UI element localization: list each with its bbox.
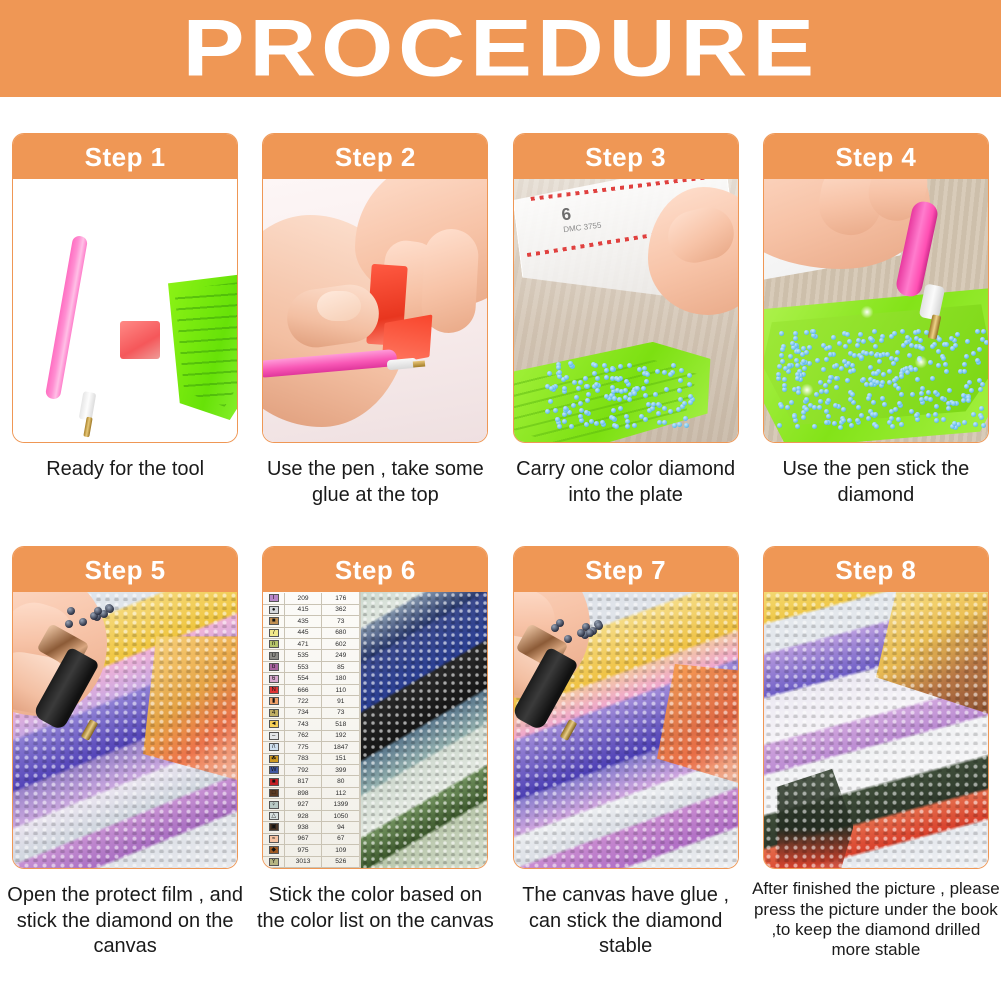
color-swatch: U <box>269 652 279 660</box>
color-count-cell: 249 <box>322 650 359 660</box>
color-swatch: 7 <box>269 629 279 637</box>
step-card-1[interactable]: Step 1 <box>12 133 238 443</box>
drill-texture <box>764 592 988 868</box>
step-badge-1: Step 1 <box>13 134 237 179</box>
color-count-cell: 1847 <box>322 742 359 752</box>
drill-bead <box>856 338 861 343</box>
drill-bead <box>579 408 584 413</box>
color-list-row: ▣93894 <box>263 822 359 833</box>
color-dmc-cell: 975 <box>285 845 322 855</box>
color-dmc-cell: 967 <box>285 834 322 844</box>
color-count-cell: 180 <box>322 673 359 683</box>
color-symbol-cell: ◆ <box>263 845 285 855</box>
drill-bead <box>549 386 554 391</box>
step-cell-3: Step 3 6 DMC 3755 <box>501 133 751 508</box>
pour-beads-photo: 6 DMC 3755 <box>514 179 738 442</box>
drill-bead <box>943 362 948 367</box>
drill-bead <box>879 338 884 343</box>
color-count-cell: 73 <box>322 708 359 718</box>
step-image-8 <box>764 592 988 868</box>
steps-grid: Step 1 Ready for the tool <box>0 133 1001 961</box>
color-symbol-cell: b <box>263 662 285 672</box>
sparkle-icon <box>860 305 874 319</box>
color-dmc-cell: 471 <box>285 639 322 649</box>
drill-bead <box>855 418 860 423</box>
drill-bead <box>804 397 809 402</box>
step-badge-label-5: Step 5 <box>85 557 166 583</box>
drill-bead <box>824 409 829 414</box>
color-dmc-cell: 209 <box>285 593 322 603</box>
drill-bead <box>595 388 600 393</box>
drill-bead <box>624 379 629 384</box>
drill-bead <box>941 356 946 361</box>
color-count-cell: 399 <box>322 765 359 775</box>
drill-bead <box>818 380 823 385</box>
step-image-1 <box>13 179 237 442</box>
drill-bead <box>623 395 628 400</box>
drill-bead <box>656 402 661 407</box>
drill-bead <box>94 607 102 615</box>
step-badge-label-1: Step 1 <box>85 144 166 170</box>
drill-bead <box>845 332 850 337</box>
step-image-3: 6 DMC 3755 <box>514 179 738 442</box>
color-dmc-cell: 435 <box>285 616 322 626</box>
color-dmc-cell: 445 <box>285 628 322 638</box>
drill-bead <box>635 386 640 391</box>
color-symbol-cell: ♀ <box>263 799 285 809</box>
drill-bead <box>897 401 902 406</box>
drill-bead <box>980 337 985 342</box>
drill-bead <box>795 363 800 368</box>
color-symbol-cell: n <box>263 639 285 649</box>
color-swatch: n <box>269 640 279 648</box>
drill-bead <box>896 417 901 422</box>
drill-bead <box>801 346 806 351</box>
drill-bead <box>679 368 684 373</box>
step-badge-label-6: Step 6 <box>335 557 416 583</box>
red-glue-square-icon <box>120 321 160 359</box>
step-cell-8: Step 8 After finished the picture , plea… <box>751 546 1001 961</box>
drill-bead <box>955 332 960 337</box>
drill-bead <box>845 378 850 383</box>
color-dmc-cell: 938 <box>285 822 322 832</box>
color-count-cell: 110 <box>322 685 359 695</box>
glued-canvas-photo <box>514 592 738 868</box>
color-dmc-cell: 898 <box>285 788 322 798</box>
glue-dip-photo <box>263 179 487 442</box>
drill-bead <box>677 422 682 427</box>
drill-bead <box>785 405 790 410</box>
dark-drills-group <box>59 602 137 628</box>
drill-bead <box>909 409 914 414</box>
drill-bead <box>793 418 798 423</box>
drill-bead <box>909 343 914 348</box>
drill-bead <box>951 401 956 406</box>
color-swatch: △ <box>269 812 279 820</box>
drill-bead <box>687 382 692 387</box>
color-list-row: –762192 <box>263 731 359 742</box>
color-count-cell: 67 <box>322 834 359 844</box>
drill-bead <box>874 353 879 358</box>
drill-bead <box>834 376 839 381</box>
step-badge-3: Step 3 <box>514 134 738 179</box>
color-list-row: W792399 <box>263 765 359 776</box>
drill-bead <box>971 412 976 417</box>
color-count-cell: 109 <box>322 845 359 855</box>
drill-bead <box>688 394 693 399</box>
drill-bead <box>915 377 920 382</box>
bag-label-number: 6 <box>560 204 573 224</box>
drill-bead <box>914 413 919 418</box>
color-count-cell: 1399 <box>322 799 359 809</box>
step-card-5[interactable]: Step 5 <box>12 546 238 869</box>
drill-bead <box>861 377 866 382</box>
drill-bead <box>682 401 687 406</box>
color-count-cell: 526 <box>322 857 359 867</box>
drill-bead <box>67 607 75 615</box>
pen-metal-tip <box>413 360 425 367</box>
drill-bead <box>792 414 797 419</box>
drill-bead <box>584 422 589 427</box>
color-list-row: ■43573 <box>263 616 359 627</box>
color-symbol-cell: ≈ <box>263 834 285 844</box>
drill-bead <box>593 363 598 368</box>
drill-bead <box>874 424 879 429</box>
color-swatch: ◄ <box>269 720 279 728</box>
color-dmc-cell: 554 <box>285 673 322 683</box>
canvas-photo <box>13 592 237 868</box>
color-list-row: □898112 <box>263 788 359 799</box>
drill-bead <box>557 370 562 375</box>
color-list-table: T209176●415362■435737445680n471602U53524… <box>263 592 361 868</box>
drill-bead <box>947 388 952 393</box>
step-caption-7: The canvas have glue , can stick the dia… <box>507 883 745 960</box>
drill-bead <box>824 420 829 425</box>
color-dmc-cell: 3013 <box>285 857 322 867</box>
drill-bead <box>930 376 935 381</box>
color-symbol-cell: 4 <box>263 708 285 718</box>
color-dmc-cell: 817 <box>285 776 322 786</box>
drill-bead <box>869 337 874 342</box>
color-swatch: ■ <box>269 778 279 786</box>
steps-row-bottom: Step 5 O <box>0 546 1001 961</box>
drill-bead <box>936 349 941 354</box>
step-badge-label-2: Step 2 <box>335 144 416 170</box>
color-dmc-cell: 553 <box>285 662 322 672</box>
drill-bead <box>833 403 838 408</box>
color-swatch: W <box>269 766 279 774</box>
drill-bead <box>873 412 878 417</box>
drill-bead <box>928 360 933 365</box>
color-swatch: ● <box>269 606 279 614</box>
color-symbol-cell: ● <box>263 605 285 615</box>
drill-bead <box>977 347 982 352</box>
color-symbol-cell: ■ <box>263 776 285 786</box>
color-dmc-cell: 535 <box>285 650 322 660</box>
step-badge-2: Step 2 <box>263 134 487 179</box>
color-list-row: ◄743518 <box>263 719 359 730</box>
color-symbol-cell: 6 <box>263 673 285 683</box>
step-card-7[interactable]: Step 7 <box>513 546 739 869</box>
drill-bead <box>562 419 567 424</box>
drill-bead <box>949 336 954 341</box>
drill-bead <box>887 380 892 385</box>
drill-bead <box>777 364 782 369</box>
drill-bead <box>919 391 924 396</box>
color-list-row: U535249 <box>263 650 359 661</box>
color-swatch: ☘ <box>269 755 279 763</box>
color-swatch: N <box>269 686 279 694</box>
color-swatch: ▣ <box>269 823 279 831</box>
color-count-cell: 362 <box>322 605 359 615</box>
drill-bead <box>782 377 787 382</box>
drill-bead <box>789 400 794 405</box>
color-count-cell: 602 <box>322 639 359 649</box>
drill-bead <box>594 421 599 426</box>
step-badge-label-3: Step 3 <box>585 144 666 170</box>
color-count-cell: 151 <box>322 754 359 764</box>
page-title: PROCEDURE <box>182 8 818 89</box>
drill-bead <box>586 629 594 637</box>
drill-bead <box>812 424 817 429</box>
drill-bead <box>592 371 597 376</box>
drill-bead <box>887 420 892 425</box>
drill-bead <box>639 414 644 419</box>
color-dmc-cell: 666 <box>285 685 322 695</box>
drill-bead <box>662 420 667 425</box>
drill-texture <box>361 592 487 868</box>
drill-bead <box>643 393 648 398</box>
step-caption-5: Open the protect film , and stick the di… <box>6 883 244 960</box>
step-cell-7: Step 7 T <box>501 546 751 961</box>
color-swatch: b <box>269 663 279 671</box>
step-card-2[interactable]: Step 2 <box>262 133 488 443</box>
drill-bead <box>787 363 792 368</box>
drill-bead <box>926 413 931 418</box>
color-list-row: ●415362 <box>263 605 359 616</box>
step-caption-1: Ready for the tool <box>6 457 244 483</box>
color-symbol-cell: N <box>263 685 285 695</box>
step-image-5 <box>13 592 237 868</box>
color-count-cell: 112 <box>322 788 359 798</box>
color-list-row: ≈96767 <box>263 834 359 845</box>
color-symbol-cell: T <box>263 593 285 603</box>
drill-bead <box>821 367 826 372</box>
drill-bead <box>677 388 682 393</box>
color-list-row: △9281050 <box>263 811 359 822</box>
drill-bead <box>795 424 800 429</box>
drill-bead <box>866 416 871 421</box>
color-symbol-cell: ▮ <box>263 696 285 706</box>
pick-drill-photo <box>764 179 988 442</box>
color-symbol-cell: W <box>263 765 285 775</box>
color-dmc-cell: 762 <box>285 731 322 741</box>
drill-bead <box>928 397 933 402</box>
sparkle-icon <box>914 355 928 369</box>
step-image-6: T209176●415362■435737445680n471602U53524… <box>263 592 487 868</box>
color-count-cell: 518 <box>322 719 359 729</box>
drill-bead <box>610 367 615 372</box>
drill-bead <box>848 397 853 402</box>
drill-bead <box>882 402 887 407</box>
color-symbol-cell: ▣ <box>263 822 285 832</box>
steps-row-top: Step 1 Ready for the tool <box>0 133 1001 508</box>
color-symbol-cell: Y <box>263 857 285 867</box>
step-badge-5: Step 5 <box>13 547 237 592</box>
color-count-cell: 73 <box>322 616 359 626</box>
drill-bead <box>657 420 662 425</box>
color-list-row: ▮72291 <box>263 696 359 707</box>
drill-bead <box>869 382 874 387</box>
drill-bead <box>819 389 824 394</box>
color-list-row: b55385 <box>263 662 359 673</box>
drill-bead <box>645 372 650 377</box>
drill-bead <box>790 341 795 346</box>
color-symbol-cell: ■ <box>263 616 285 626</box>
color-swatch: – <box>269 732 279 740</box>
drill-bead <box>889 356 894 361</box>
drill-bead <box>827 345 832 350</box>
drill-bead <box>79 618 87 626</box>
color-swatch: 4 <box>269 709 279 717</box>
drill-bead <box>777 423 782 428</box>
drill-bead <box>627 363 632 368</box>
drill-bead <box>940 396 945 401</box>
color-list-row: /\7751847 <box>263 742 359 753</box>
color-symbol-cell: □ <box>263 788 285 798</box>
step-cell-4: Step 4 <box>751 133 1001 508</box>
color-count-cell: 85 <box>322 662 359 672</box>
color-dmc-cell: 792 <box>285 765 322 775</box>
step-badge-4: Step 4 <box>764 134 988 179</box>
drill-bead <box>885 352 890 357</box>
drill-bead <box>952 421 957 426</box>
drill-bead <box>936 363 941 368</box>
drill-bead <box>981 423 986 428</box>
step-caption-8: After finished the picture , please pres… <box>752 879 1000 961</box>
drill-bead <box>604 394 609 399</box>
color-symbol-cell: ◄ <box>263 719 285 729</box>
color-dmc-cell: 415 <box>285 605 322 615</box>
bag-label: 6 DMC 3755 <box>560 201 601 234</box>
page-header-banner: PROCEDURE <box>0 0 1001 97</box>
drill-bead <box>678 378 683 383</box>
color-dmc-cell: 927 <box>285 799 322 809</box>
step-badge-label-7: Step 7 <box>585 557 666 583</box>
step-card-4[interactable]: Step 4 <box>763 133 989 443</box>
color-swatch: 6 <box>269 675 279 683</box>
step-cell-6: Step 6 T209176●415362■435737445680n47160… <box>250 546 500 961</box>
step-caption-6: Stick the color based on the color list … <box>256 883 494 934</box>
drill-bead <box>662 370 667 375</box>
canvas-area <box>361 592 487 868</box>
drill-bead <box>668 409 673 414</box>
drill-bead <box>851 368 856 373</box>
finished-painting-photo <box>764 592 988 868</box>
color-swatch: ▮ <box>269 697 279 705</box>
drill-bead <box>979 406 984 411</box>
drill-bead <box>852 353 857 358</box>
step-card-3[interactable]: Step 3 6 DMC 3755 <box>513 133 739 443</box>
color-count-cell: 91 <box>322 696 359 706</box>
drill-bead <box>841 418 846 423</box>
drill-bead <box>937 337 942 342</box>
color-swatch: Y <box>269 858 279 866</box>
drill-bead <box>881 372 886 377</box>
drill-bead <box>632 391 637 396</box>
step-badge-label-4: Step 4 <box>835 144 916 170</box>
color-symbol-cell: – <box>263 731 285 741</box>
color-list-row: ☘783151 <box>263 754 359 765</box>
drill-bead <box>864 351 869 356</box>
drill-bead <box>780 359 785 364</box>
drill-bead <box>858 332 863 337</box>
color-list-row: Y3013526 <box>263 857 359 868</box>
drill-bead <box>585 384 590 389</box>
pink-pen-icon <box>45 235 88 400</box>
color-swatch: T <box>269 594 279 602</box>
step-cell-1: Step 1 Ready for the tool <box>0 133 250 508</box>
tools-illustration <box>13 179 237 442</box>
drill-bead <box>788 354 793 359</box>
drill-bead <box>683 416 688 421</box>
step-card-8[interactable]: Step 8 <box>763 546 989 869</box>
color-dmc-cell: 783 <box>285 754 322 764</box>
color-swatch: □ <box>269 789 279 797</box>
color-count-cell: 80 <box>322 776 359 786</box>
drill-bead <box>832 421 837 426</box>
drill-bead <box>779 353 784 358</box>
color-symbol-cell: ☘ <box>263 754 285 764</box>
drill-bead <box>595 622 603 630</box>
drill-bead <box>849 423 854 428</box>
drill-bead <box>877 359 882 364</box>
sparkle-icon <box>800 383 814 397</box>
step-card-6[interactable]: Step 6 T209176●415362■435737445680n47160… <box>262 546 488 869</box>
step-image-7 <box>514 592 738 868</box>
color-count-cell: 192 <box>322 731 359 741</box>
color-symbol-cell: △ <box>263 811 285 821</box>
step-badge-label-8: Step 8 <box>835 557 916 583</box>
drill-bead <box>838 425 843 430</box>
drill-bead <box>946 406 951 411</box>
step-cell-2: Step 2 <box>250 133 500 508</box>
color-dmc-cell: 734 <box>285 708 322 718</box>
drill-bead <box>910 392 915 397</box>
color-list-photo: T209176●415362■435737445680n471602U53524… <box>263 592 487 868</box>
color-count-cell: 680 <box>322 628 359 638</box>
color-count-cell: 176 <box>322 593 359 603</box>
color-dmc-cell: 722 <box>285 696 322 706</box>
drill-bead <box>610 385 615 390</box>
drill-bead <box>817 405 822 410</box>
drill-bead <box>958 369 963 374</box>
drill-bead <box>934 404 939 409</box>
drill-bead <box>780 347 785 352</box>
step-badge-7: Step 7 <box>514 547 738 592</box>
color-list-row: T209176 <box>263 593 359 604</box>
drill-bead <box>625 419 630 424</box>
color-list-row: n471602 <box>263 639 359 650</box>
step-caption-4: Use the pen stick the diamond <box>757 457 995 508</box>
drill-bead <box>979 415 984 420</box>
drill-bead <box>871 400 876 405</box>
drill-bead <box>637 367 642 372</box>
color-dmc-cell: 743 <box>285 719 322 729</box>
color-list-row: 6554180 <box>263 673 359 684</box>
color-list-row: 7445680 <box>263 628 359 639</box>
color-swatch: ♀ <box>269 801 279 809</box>
